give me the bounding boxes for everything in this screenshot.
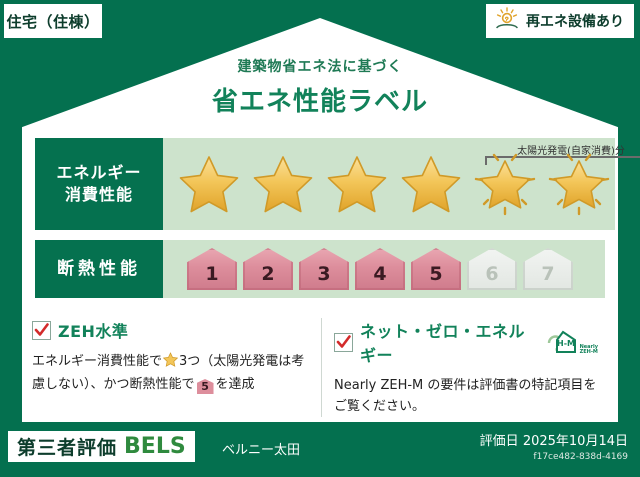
star-icon-solar bbox=[469, 148, 541, 220]
zeh-standard-body: エネルギー消費性能で3つ（太陽光発電は考慮しない）、かつ断熱性能で5を達成 bbox=[32, 351, 309, 395]
grade-number: 6 bbox=[485, 263, 498, 290]
renewable-equipment-chip: 再エネ設備あり bbox=[486, 4, 634, 38]
insulation-grade-band: 1 2 3 4 5 6 7 bbox=[163, 240, 605, 298]
zeh-m-logo-sublabel: Nearly ZEH-M bbox=[580, 345, 598, 356]
evaluation-date-value: 2025年10月14日 bbox=[523, 434, 628, 449]
grade-number: 7 bbox=[541, 263, 554, 290]
title-main: 省エネ性能ラベル bbox=[0, 81, 640, 118]
insulation-performance-row: 断熱性能 1 2 3 4 5 6 7 bbox=[35, 240, 605, 298]
grade-badge: 7 bbox=[523, 248, 573, 290]
grade-badge: 5 bbox=[411, 248, 461, 290]
building-type-chip: 住宅（住棟） bbox=[4, 4, 102, 38]
grade-number: 2 bbox=[261, 263, 274, 290]
zeh-body-part1: エネルギー消費性能で bbox=[32, 354, 162, 369]
energy-performance-row: エネルギー 消費性能 太陽光発電(自家消費)分 bbox=[35, 138, 605, 230]
grade-badge: 1 bbox=[187, 248, 237, 290]
net-zero-heading: ネット・ゼロ・エネルギー H-M Nearly ZEH-M bbox=[334, 318, 598, 366]
label-footer: 第三者評価 BELS ベルニー太田 評価日 2025年10月14日 f17ce4… bbox=[0, 422, 640, 477]
zeh-standard-heading: ZEH水準 bbox=[32, 318, 309, 342]
evaluation-meta: 評価日 2025年10月14日 f17ce482-838d-4169 bbox=[480, 430, 628, 462]
grade-number: 3 bbox=[317, 263, 330, 290]
energy-star-band: 太陽光発電(自家消費)分 bbox=[163, 138, 615, 230]
bels-label: BELS bbox=[124, 434, 186, 459]
building-type-text: 住宅（住棟） bbox=[6, 11, 99, 32]
red-check-icon bbox=[334, 333, 353, 352]
evaluation-date: 評価日 2025年10月14日 bbox=[480, 430, 628, 449]
zeh-body-part3: を達成 bbox=[216, 377, 255, 392]
grade-number: 5 bbox=[429, 263, 442, 290]
evaluation-date-label: 評価日 bbox=[480, 434, 519, 449]
grade-number: 1 bbox=[205, 263, 218, 290]
energy-label-root: 住宅（住棟） 再エネ設備あり 建築物省エネ法に基づく 省エネ性能ラベル bbox=[0, 0, 640, 477]
inline-grade-badge: 5 bbox=[197, 379, 214, 394]
svg-text:H-M: H-M bbox=[557, 339, 575, 348]
owner-name: ベルニー太田 bbox=[222, 439, 300, 458]
evaluation-uid: f17ce482-838d-4169 bbox=[480, 452, 628, 462]
grade-badge: 4 bbox=[355, 248, 405, 290]
energy-label-line1: エネルギー bbox=[56, 162, 141, 184]
logo-sub-line2: ZEH-M bbox=[580, 349, 598, 355]
insulation-label-text: 断熱性能 bbox=[57, 258, 141, 281]
star-icon bbox=[395, 148, 467, 220]
insulation-grade-list: 1 2 3 4 5 6 7 bbox=[163, 248, 573, 290]
grade-number: 4 bbox=[373, 263, 386, 290]
star-icon bbox=[173, 148, 245, 220]
zeh-m-logo-icon: H-M Nearly ZEH-M bbox=[546, 329, 598, 355]
star-icon-solar bbox=[543, 148, 615, 220]
zeh-standard-title: ZEH水準 bbox=[58, 318, 128, 342]
grade-badge: 3 bbox=[299, 248, 349, 290]
bels-evaluation-badge: 第三者評価 BELS bbox=[8, 431, 195, 462]
energy-performance-label: エネルギー 消費性能 bbox=[35, 138, 163, 230]
label-title: 建築物省エネ法に基づく 省エネ性能ラベル bbox=[0, 56, 640, 118]
energy-label-line2: 消費性能 bbox=[65, 184, 133, 206]
grade-badge: 2 bbox=[243, 248, 293, 290]
star-icon bbox=[321, 148, 393, 220]
net-zero-energy-column: ネット・ゼロ・エネルギー H-M Nearly ZEH-M Nearly ZEH… bbox=[321, 318, 610, 417]
grade-badge: 6 bbox=[467, 248, 517, 290]
third-party-label: 第三者評価 bbox=[17, 433, 117, 460]
criteria-columns: ZEH水準 エネルギー消費性能で3つ（太陽光発電は考慮しない）、かつ断熱性能で5… bbox=[32, 318, 610, 417]
title-subtitle: 建築物省エネ法に基づく bbox=[0, 56, 640, 76]
net-zero-body: Nearly ZEH-M の要件は評価書の特記項目をご覧ください。 bbox=[334, 375, 598, 417]
star-icon bbox=[163, 352, 178, 374]
sun-solar-icon bbox=[494, 7, 520, 35]
net-zero-title: ネット・ゼロ・エネルギー bbox=[360, 318, 535, 366]
insulation-performance-label: 断熱性能 bbox=[35, 240, 163, 298]
zeh-standard-column: ZEH水準 エネルギー消費性能で3つ（太陽光発電は考慮しない）、かつ断熱性能で5… bbox=[32, 318, 321, 417]
star-icon bbox=[247, 148, 319, 220]
renewable-equipment-text: 再エネ設備あり bbox=[526, 11, 624, 31]
red-check-icon bbox=[32, 321, 51, 340]
star-rating bbox=[163, 148, 615, 220]
